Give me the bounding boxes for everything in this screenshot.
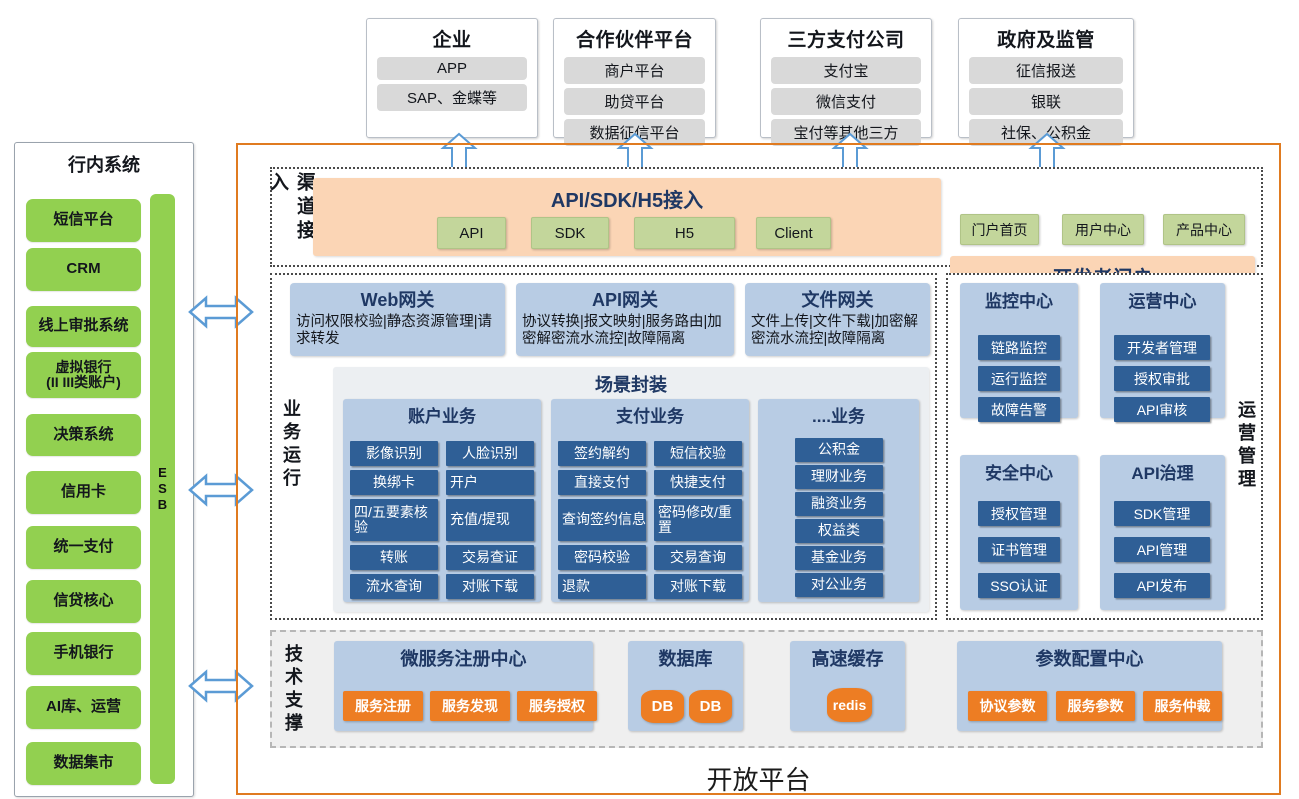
tech-card-title: 数据库	[628, 641, 743, 671]
esb-label-line: B	[158, 497, 167, 513]
tech-chip-service-parameters[interactable]: 服务参数	[1056, 691, 1135, 721]
scene-chip-refund[interactable]: 退款	[558, 574, 646, 599]
scene-chip-four-five-element-verify[interactable]: 四/五要素核验	[350, 499, 438, 541]
ops-chip-sso-authentication[interactable]: SSO认证	[978, 573, 1060, 598]
scene-chip-housing-fund[interactable]: 公积金	[795, 438, 883, 462]
scene-chip-password-change-reset[interactable]: 密码修改/重置	[654, 499, 742, 541]
external-party-card-enterprise: 企业 APP SAP、金蝶等	[366, 18, 538, 138]
bank-system-item-online-approval[interactable]: 线上审批系统	[26, 306, 141, 347]
external-party-title: 企业	[432, 25, 471, 52]
ops-management-section-label: 运营管理	[1233, 390, 1259, 502]
gateway-description: 协议转换|报文映射|服务路由|加密解密流水流控|故障隔离	[522, 314, 728, 348]
scene-chip-financing[interactable]: 融资业务	[795, 492, 883, 516]
ops-card-title: 监控中心	[960, 283, 1078, 317]
external-party-item: 商户平台	[564, 57, 705, 84]
esb-label-line: S	[158, 481, 167, 497]
scene-chip-query-sign-info[interactable]: 查询签约信息	[558, 499, 646, 541]
bank-system-item-unified-payment[interactable]: 统一支付	[26, 526, 141, 569]
gateway-title: Web网关	[296, 286, 499, 312]
esb-bus: E S B	[150, 194, 175, 784]
tech-chip-service-discovery[interactable]: 服务发现	[430, 691, 510, 721]
ops-chip-sdk-management[interactable]: SDK管理	[1114, 501, 1210, 526]
scene-chip-password-verify[interactable]: 密码校验	[558, 545, 646, 570]
ops-chip-authorization-management[interactable]: 授权管理	[978, 501, 1060, 526]
open-platform-title: 开放平台	[236, 760, 1281, 797]
scene-chip-rights-benefits[interactable]: 权益类	[795, 519, 883, 543]
database-cylinder-db1[interactable]: DB	[641, 690, 684, 723]
external-party-item: 征信报送	[969, 57, 1123, 84]
gateway-title: 文件网关	[751, 286, 924, 312]
bank-system-item-credit-core[interactable]: 信贷核心	[26, 580, 141, 623]
tech-chip-service-registration[interactable]: 服务注册	[343, 691, 423, 721]
gateway-description: 访问权限校验|静态资源管理|请求转发	[296, 314, 499, 348]
scene-chip-direct-payment[interactable]: 直接支付	[558, 470, 646, 495]
scene-chip-quick-payment[interactable]: 快捷支付	[654, 470, 742, 495]
scene-group-title: 账户业务	[343, 399, 541, 431]
external-party-title: 三方支付公司	[787, 25, 904, 52]
scene-chip-corporate-business[interactable]: 对公业务	[795, 573, 883, 597]
gateway-title: API网关	[522, 286, 728, 312]
scene-group-title: ....业务	[758, 399, 919, 431]
tech-chip-protocol-parameters[interactable]: 协议参数	[968, 691, 1047, 721]
gateway-card-web: Web网关 访问权限校验|静态资源管理|请求转发	[290, 283, 505, 356]
scene-chip-wealth-management[interactable]: 理财业务	[795, 465, 883, 489]
tech-card-title: 微服务注册中心	[334, 641, 593, 671]
gateway-card-file: 文件网关 文件上传|文件下载|加密解密流水流控|故障隔离	[745, 283, 930, 356]
ops-card-title: 安全中心	[960, 455, 1078, 489]
gateway-description: 文件上传|文件下载|加密解密流水流控|故障隔离	[751, 314, 924, 348]
bank-system-item-ai-operations[interactable]: AI库、运营	[26, 686, 141, 729]
business-run-section-label: 业务运行	[278, 390, 304, 500]
ops-chip-runtime-monitoring[interactable]: 运行监控	[978, 366, 1060, 391]
scene-chip-image-recognition[interactable]: 影像识别	[350, 441, 438, 466]
developer-portal-chip-user-center[interactable]: 用户中心	[1062, 214, 1144, 245]
ops-card-title: 运营中心	[1100, 283, 1225, 317]
scene-chip-statement-query[interactable]: 流水查询	[350, 574, 438, 599]
bank-system-item-credit-card[interactable]: 信用卡	[26, 471, 141, 514]
ops-chip-api-publish[interactable]: API发布	[1114, 573, 1210, 598]
scene-chip-open-account[interactable]: 开户	[446, 470, 534, 495]
gateway-card-api: API网关 协议转换|报文映射|服务路由|加密解密流水流控|故障隔离	[516, 283, 734, 356]
ops-chip-developer-management[interactable]: 开发者管理	[1114, 335, 1210, 360]
scene-chip-topup-withdraw[interactable]: 充值/提现	[446, 499, 534, 541]
bank-system-item-sms-platform[interactable]: 短信平台	[26, 199, 141, 242]
scene-chip-reconciliation-download[interactable]: 对账下载	[446, 574, 534, 599]
scene-encapsulation-title: 场景封装	[333, 367, 929, 397]
external-party-title: 政府及监管	[997, 25, 1095, 52]
ops-chip-authorization-approval[interactable]: 授权审批	[1114, 366, 1210, 391]
external-party-item: APP	[377, 57, 527, 80]
esb-label-line: E	[158, 465, 167, 481]
scene-chip-transaction-verify[interactable]: 交易查证	[446, 545, 534, 570]
api-sdk-h5-access-block: API/SDK/H5接入	[313, 178, 941, 256]
bank-system-item-mobile-bank[interactable]: 手机银行	[26, 632, 141, 675]
ops-chip-fault-alarm[interactable]: 故障告警	[978, 397, 1060, 422]
bank-system-item-crm[interactable]: CRM	[26, 248, 141, 291]
channel-chip-sdk[interactable]: SDK	[531, 217, 609, 249]
channel-chip-api[interactable]: API	[437, 217, 506, 249]
external-party-item: 助贷平台	[564, 88, 705, 115]
external-party-card-government-regulator: 政府及监管 征信报送 银联 社保、公积金	[958, 18, 1134, 138]
api-sdk-h5-access-title: API/SDK/H5接入	[313, 178, 941, 213]
tech-card-title: 参数配置中心	[957, 641, 1222, 671]
bank-panel-title: 行内系统	[15, 151, 193, 177]
developer-portal-chip-home[interactable]: 门户首页	[960, 214, 1039, 245]
scene-chip-sign-unsign[interactable]: 签约解约	[558, 441, 646, 466]
database-cylinder-db2[interactable]: DB	[689, 690, 732, 723]
bank-system-item-decision-system[interactable]: 决策系统	[26, 414, 141, 456]
scene-chip-fund-business[interactable]: 基金业务	[795, 546, 883, 570]
external-party-item: 银联	[969, 88, 1123, 115]
ops-chip-api-review[interactable]: API审核	[1114, 397, 1210, 422]
channel-access-section-label: 渠道接入	[278, 172, 304, 264]
ops-card-title: API治理	[1100, 455, 1225, 489]
ops-chip-link-monitoring[interactable]: 链路监控	[978, 335, 1060, 360]
external-party-card-partner-platform: 合作伙伴平台 商户平台 助贷平台 数据征信平台	[553, 18, 716, 138]
scene-chip-sms-verify[interactable]: 短信校验	[654, 441, 742, 466]
tech-chip-service-arbitration[interactable]: 服务仲裁	[1143, 691, 1222, 721]
scene-chip-reconciliation-download-2[interactable]: 对账下载	[654, 574, 742, 599]
redis-cylinder[interactable]: redis	[827, 688, 872, 722]
bank-system-item-virtual-bank[interactable]: 虚拟银行 (II III类账户)	[26, 352, 141, 398]
bank-system-item-data-mart[interactable]: 数据集市	[26, 742, 141, 785]
ops-chip-certificate-management[interactable]: 证书管理	[978, 537, 1060, 562]
external-party-item: SAP、金蝶等	[377, 84, 527, 111]
scene-chip-transfer[interactable]: 转账	[350, 545, 438, 570]
ops-chip-api-management[interactable]: API管理	[1114, 537, 1210, 562]
tech-card-title: 高速缓存	[790, 641, 905, 671]
scene-chip-rebind-card[interactable]: 换绑卡	[350, 470, 438, 495]
channel-chip-client[interactable]: Client	[756, 217, 831, 249]
scene-chip-face-recognition[interactable]: 人脸识别	[446, 441, 534, 466]
developer-portal-chip-product-center[interactable]: 产品中心	[1163, 214, 1245, 245]
channel-chip-h5[interactable]: H5	[634, 217, 735, 249]
external-party-item: 支付宝	[771, 57, 921, 84]
tech-chip-service-authorization[interactable]: 服务授权	[517, 691, 597, 721]
external-party-item: 微信支付	[771, 88, 921, 115]
external-party-title: 合作伙伴平台	[576, 25, 693, 52]
scene-group-title: 支付业务	[551, 399, 749, 431]
scene-chip-transaction-query[interactable]: 交易查询	[654, 545, 742, 570]
external-party-card-third-party-payment: 三方支付公司 支付宝 微信支付 宝付等其他三方	[760, 18, 932, 138]
tech-support-section-label: 技术支撑	[280, 640, 306, 740]
